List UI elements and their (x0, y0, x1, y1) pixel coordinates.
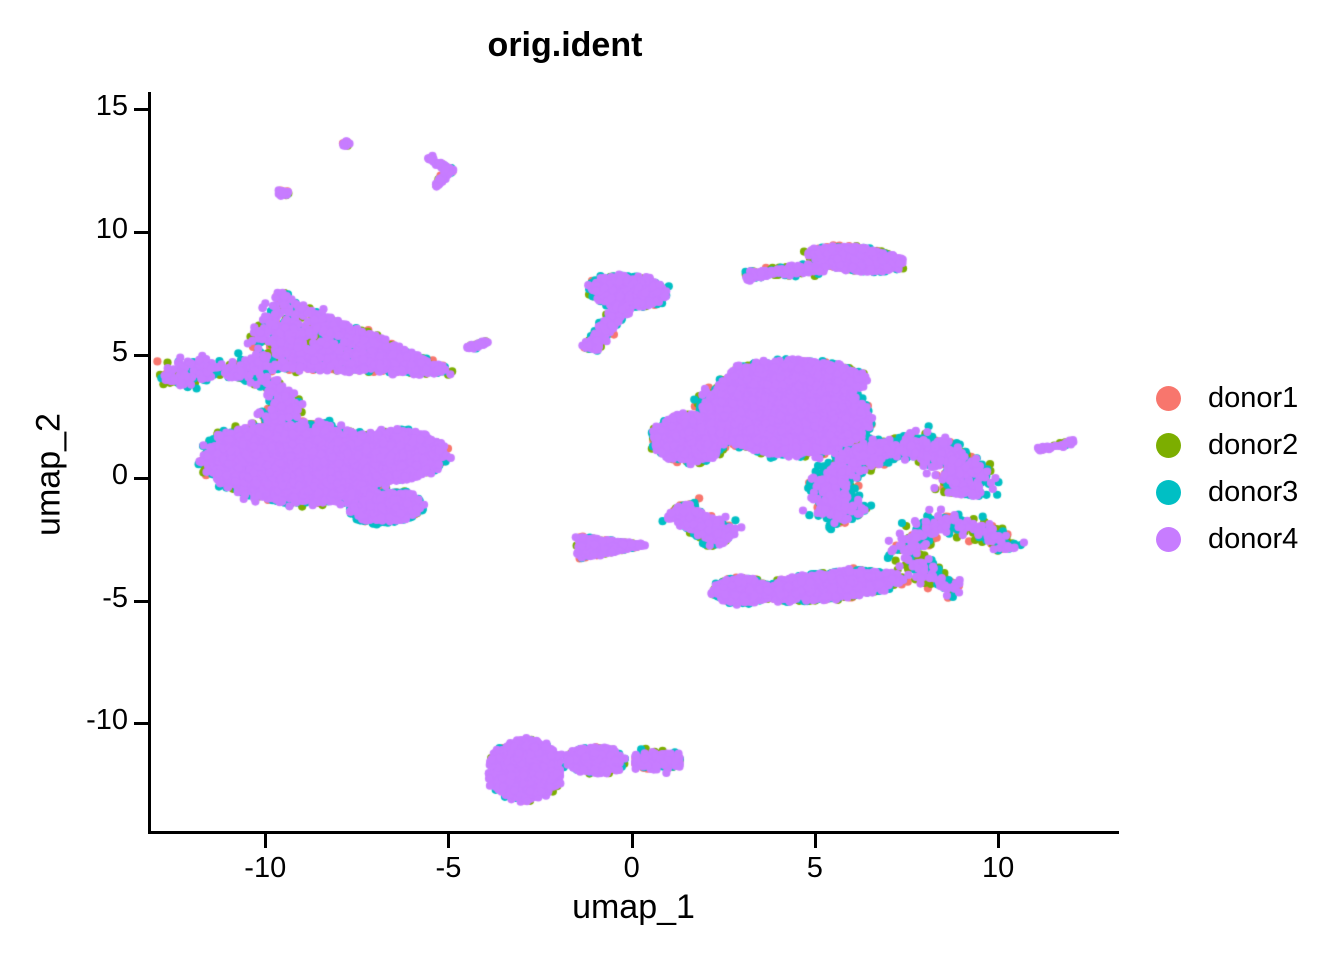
legend-item-donor1[interactable]: donor1 (1150, 380, 1298, 416)
x-tick (631, 834, 634, 848)
legend-item-label: donor1 (1208, 382, 1298, 415)
legend-item-label: donor2 (1208, 429, 1298, 462)
x-tick-label: 5 (807, 852, 823, 885)
x-tick (264, 834, 267, 848)
x-tick-label: 0 (624, 852, 640, 885)
x-axis-label: umap_1 (148, 888, 1119, 927)
y-tick-label: -5 (102, 582, 128, 615)
x-tick (447, 834, 450, 848)
legend-key (1150, 527, 1186, 552)
y-tick-label: 15 (96, 90, 128, 123)
x-tick (997, 834, 1000, 848)
y-tick (134, 231, 148, 234)
legend-key (1150, 386, 1186, 411)
legend-color-dot (1156, 433, 1181, 458)
legend-item-donor3[interactable]: donor3 (1150, 474, 1298, 510)
y-tick (134, 722, 148, 725)
y-tick (134, 354, 148, 357)
legend: donor1donor2donor3donor4 (1150, 380, 1298, 557)
y-tick (134, 477, 148, 480)
x-tick-label: -5 (436, 852, 462, 885)
x-tick-label: 10 (982, 852, 1014, 885)
y-tick-label: 5 (112, 336, 128, 369)
y-axis-label: umap_2 (30, 104, 69, 846)
y-tick-label: -10 (86, 704, 128, 737)
y-tick (134, 600, 148, 603)
legend-color-dot (1156, 527, 1181, 552)
y-tick (134, 108, 148, 111)
legend-key (1150, 433, 1186, 458)
legend-item-donor2[interactable]: donor2 (1150, 427, 1298, 463)
legend-item-label: donor4 (1208, 523, 1298, 556)
legend-color-dot (1156, 480, 1181, 505)
y-tick-label: 10 (96, 213, 128, 246)
x-tick-label: -10 (244, 852, 286, 885)
y-tick-label: 0 (112, 459, 128, 492)
legend-item-label: donor3 (1208, 476, 1298, 509)
page-title: orig.ident (0, 26, 1130, 65)
x-tick (814, 834, 817, 848)
y-axis-line (148, 92, 151, 834)
umap-scatter-plot: orig.ident -10-5051015 -10-50510 umap_1 … (0, 0, 1344, 960)
legend-key (1150, 480, 1186, 505)
legend-color-dot (1156, 386, 1181, 411)
scatter-plot-canvas (148, 92, 1119, 834)
legend-item-donor4[interactable]: donor4 (1150, 521, 1298, 557)
